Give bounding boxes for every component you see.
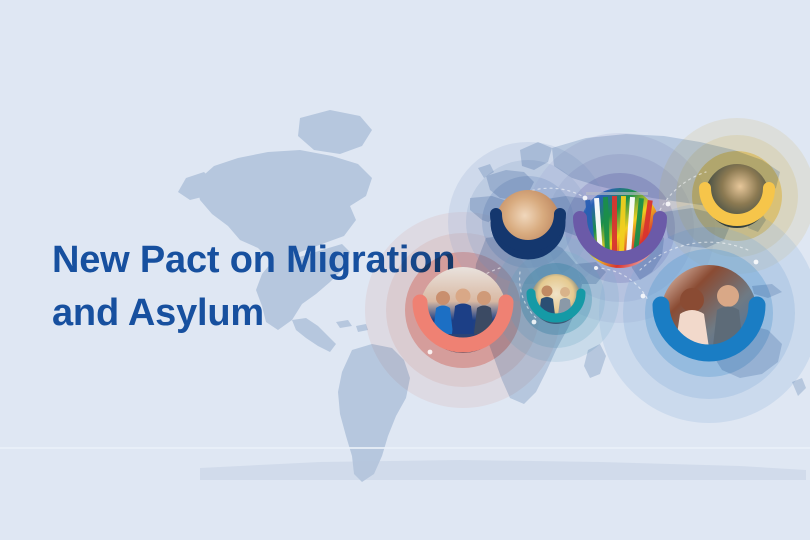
bubble-officials-group[interactable] bbox=[420, 267, 506, 353]
bubble-eu-flags[interactable] bbox=[580, 188, 660, 268]
bubble-halos bbox=[365, 118, 810, 423]
photo-bubble-cluster bbox=[0, 0, 810, 540]
bubble-person-working[interactable] bbox=[705, 164, 769, 228]
officials-figures bbox=[433, 289, 494, 335]
migration-pact-banner: New Pact on Migration and Asylum bbox=[0, 0, 810, 540]
bubble-handshake-hands[interactable] bbox=[496, 190, 560, 254]
bubble-woman-and-man-talking[interactable] bbox=[661, 265, 757, 361]
bubble-two-people-table[interactable] bbox=[531, 274, 581, 324]
